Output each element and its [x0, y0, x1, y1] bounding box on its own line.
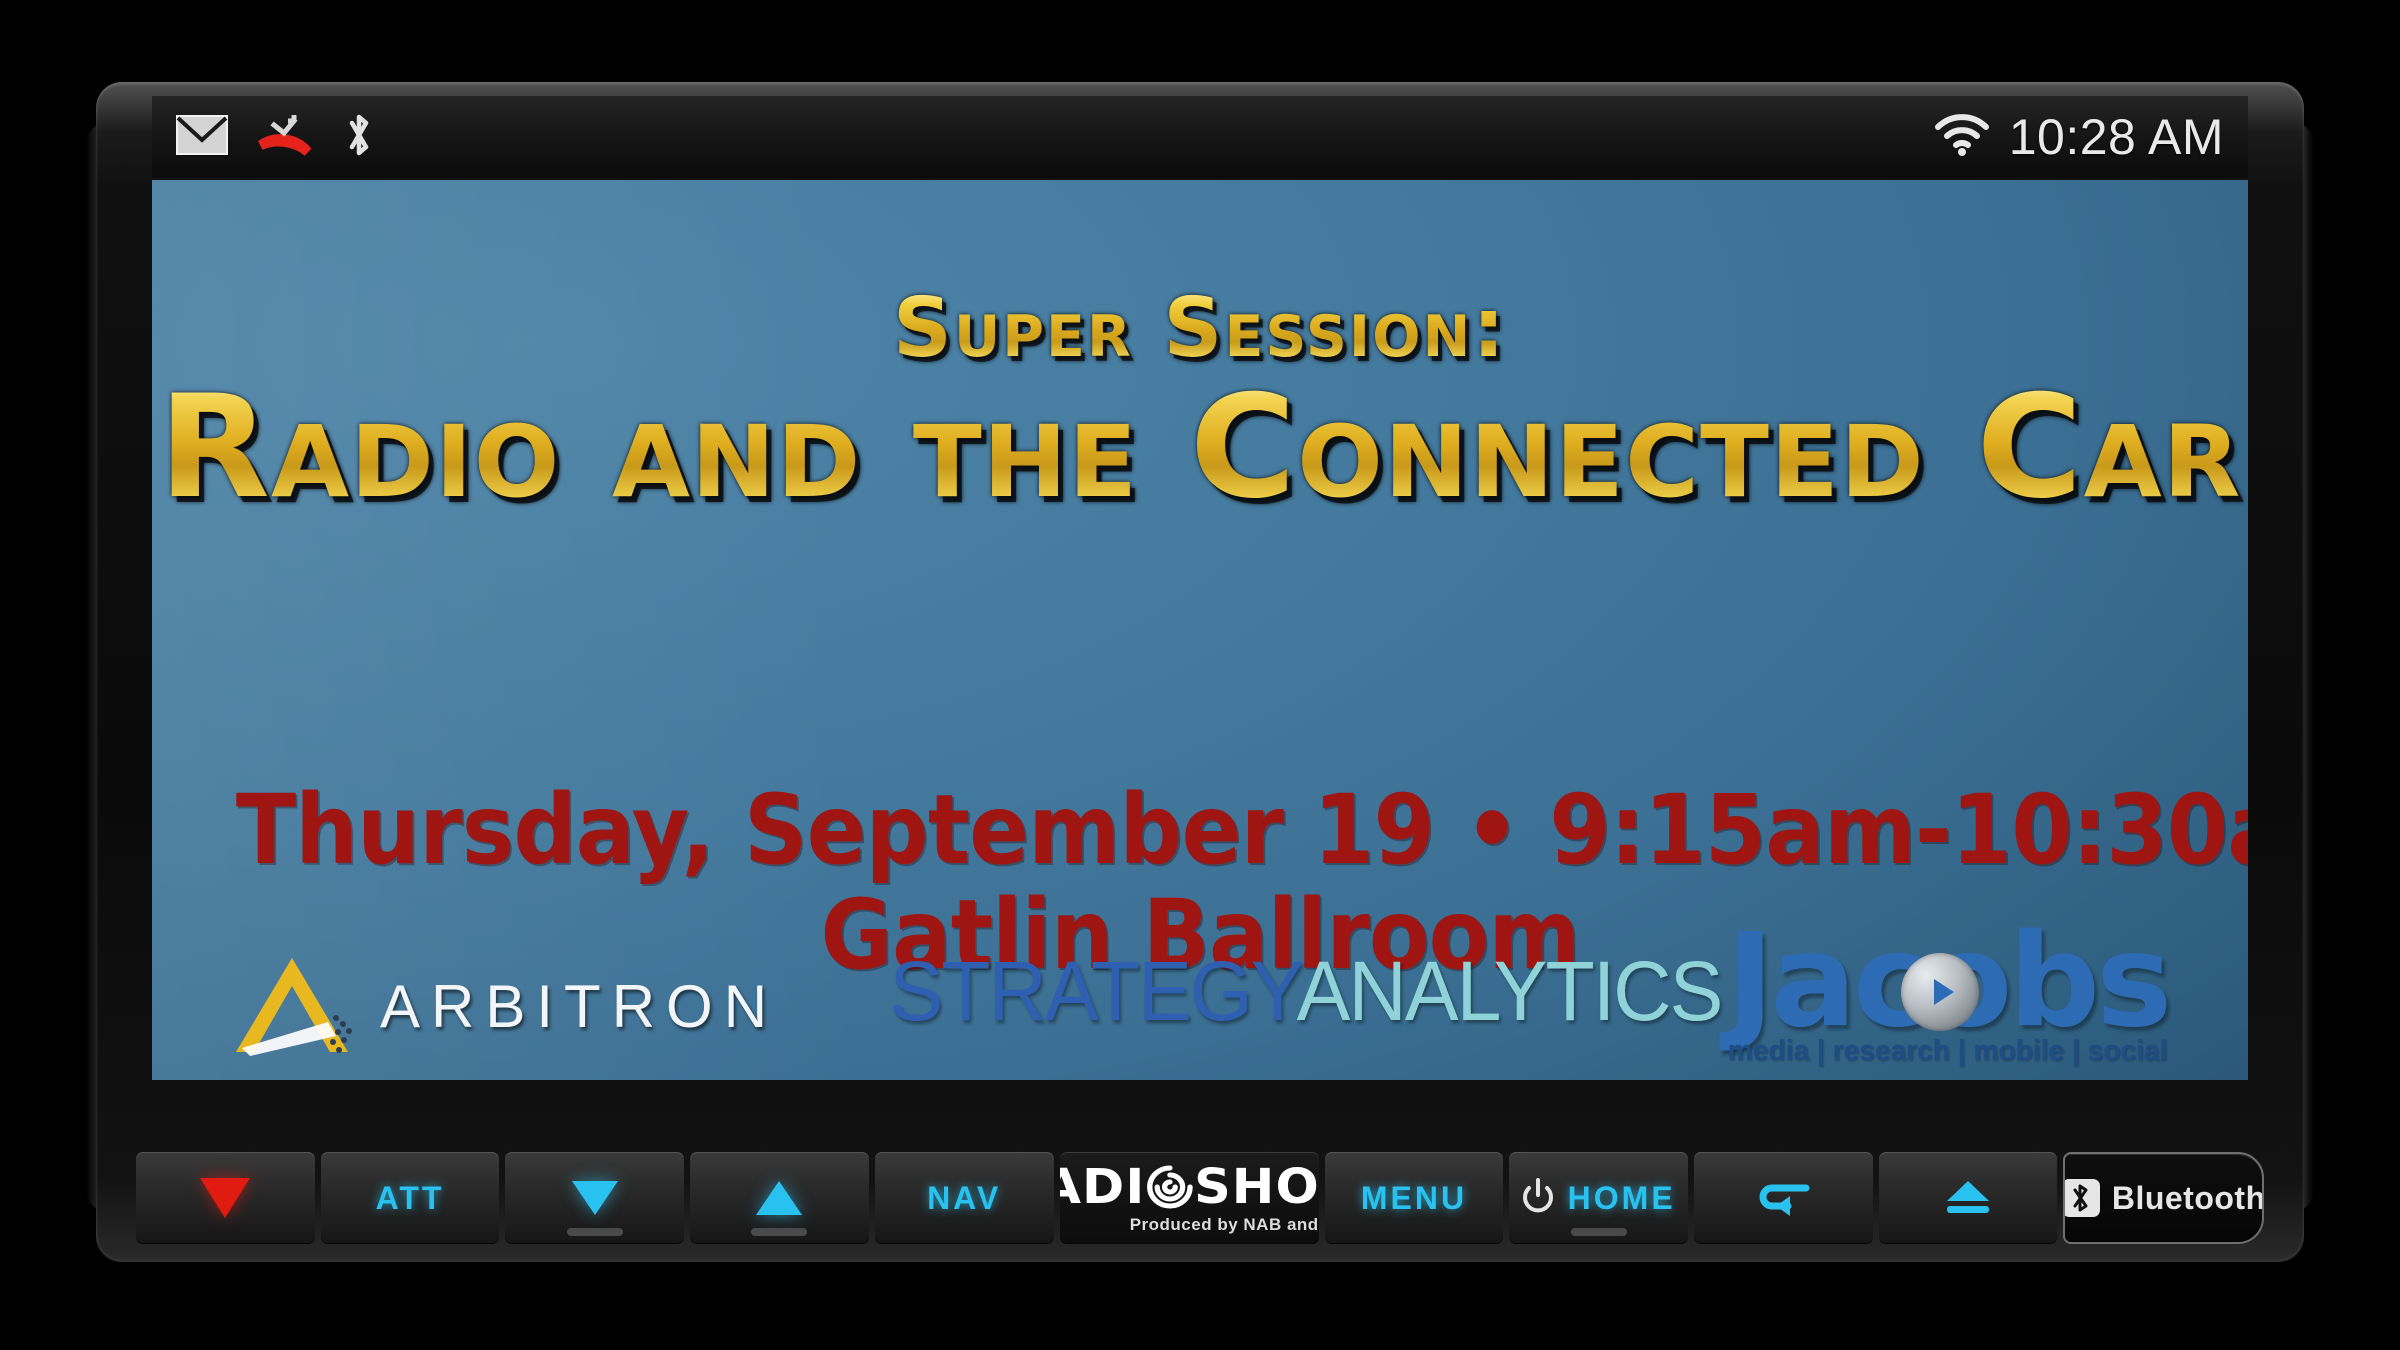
- triangle-down-red-icon: [200, 1178, 250, 1218]
- analytics-word: ANALYTICS: [1297, 944, 1722, 1038]
- sponsor-logo-strategy-analytics: STRATEGYANALYTICS: [889, 943, 1721, 1040]
- eject-icon: [1943, 1177, 1993, 1220]
- radioshow-wordmark: RADI SHOW Produced by NAB and RAB: [1060, 1163, 1319, 1233]
- tune-up-button[interactable]: [690, 1152, 869, 1244]
- volume-down-button[interactable]: [136, 1152, 315, 1244]
- menu-label: MENU: [1361, 1180, 1467, 1217]
- slide-eyebrow: Super Session:: [152, 288, 2248, 370]
- jacobs-tagline: media | research | mobile | social: [1728, 1035, 2168, 1068]
- home-label: HOME: [1568, 1180, 1676, 1217]
- spiral-icon: [1145, 1164, 1194, 1210]
- device-bezel: 10:28 AM Super Session: Radio and the Co…: [96, 82, 2304, 1262]
- triangle-down-cyan-icon: [572, 1181, 618, 1215]
- bluetooth-badge-label: Bluetooth: [2112, 1180, 2264, 1217]
- power-icon: [1522, 1178, 1554, 1219]
- sponsor-logo-arbitron: ARBITRON: [232, 952, 778, 1060]
- button-nub: [751, 1228, 807, 1236]
- car-head-unit: 10:28 AM Super Session: Radio and the Co…: [96, 82, 2304, 1262]
- home-button[interactable]: HOME: [1509, 1152, 1688, 1244]
- slide-date-line: Thursday, September 19 • 9:15am-10:30am: [236, 780, 2164, 881]
- radioshow-part-one: RADI: [1060, 1163, 1146, 1211]
- triangle-up-cyan-icon: [756, 1181, 802, 1215]
- bluetooth-badge[interactable]: Bluetooth: [2063, 1152, 2264, 1244]
- status-bar-left-icons: [176, 111, 376, 164]
- nav-button[interactable]: NAV: [875, 1152, 1054, 1244]
- sponsor-logo-jacobs-media: Jacobs media | research | mobile | socia…: [1721, 923, 2174, 1068]
- menu-button[interactable]: MENU: [1325, 1152, 1504, 1244]
- attenuate-button[interactable]: ATT: [321, 1152, 500, 1244]
- jacobs-wordmark-wrap: Jacobs: [1721, 923, 2174, 1041]
- missed-call-icon[interactable]: [254, 111, 316, 164]
- bluetooth-icon: [2063, 1179, 2099, 1217]
- slide-headline: Radio and the Connected Car: [152, 376, 2248, 521]
- status-bar: 10:28 AM: [152, 96, 2248, 178]
- hardware-button-bar: ATT NAV RADI: [136, 1152, 2264, 1244]
- button-nub: [1571, 1228, 1627, 1236]
- bluetooth-icon[interactable]: [342, 111, 376, 164]
- radioshow-sublabel: Produced by NAB and RAB: [1130, 1216, 1319, 1233]
- back-arrow-icon: [1754, 1176, 1812, 1221]
- button-nub: [567, 1228, 623, 1236]
- arbitron-triangle-icon: [232, 952, 364, 1060]
- radioshow-logo: RADI SHOW Produced by NAB and RAB: [1060, 1152, 1319, 1244]
- wifi-icon[interactable]: [1933, 113, 1991, 162]
- back-button[interactable]: [1694, 1152, 1873, 1244]
- tune-down-button[interactable]: [505, 1152, 684, 1244]
- strategy-word: STRATEGY: [889, 944, 1296, 1038]
- arbitron-wordmark: ARBITRON: [380, 972, 778, 1041]
- radioshow-main-line: RADI SHOW: [1060, 1163, 1319, 1211]
- bluetooth-badge-inner: Bluetooth: [2063, 1179, 2264, 1217]
- status-bar-clock: 10:28 AM: [2009, 108, 2224, 166]
- screenshot-root: 10:28 AM Super Session: Radio and the Co…: [0, 0, 2400, 1350]
- nav-label: NAV: [927, 1180, 1001, 1217]
- jacobs-play-disc-icon: [1901, 953, 1979, 1031]
- mail-icon[interactable]: [176, 115, 228, 160]
- eject-button[interactable]: [1879, 1152, 2058, 1244]
- slide-title-block: Super Session: Radio and the Connected C…: [152, 288, 2248, 521]
- attenuate-label: ATT: [376, 1180, 445, 1217]
- radioshow-part-two: SHOW: [1194, 1163, 1319, 1211]
- display-screen[interactable]: Super Session: Radio and the Connected C…: [152, 180, 2248, 1080]
- sponsor-logo-row: ARBITRON STRATEGYANALYTICS Jacobs media …: [152, 914, 2248, 1074]
- status-bar-right: 10:28 AM: [1933, 108, 2224, 166]
